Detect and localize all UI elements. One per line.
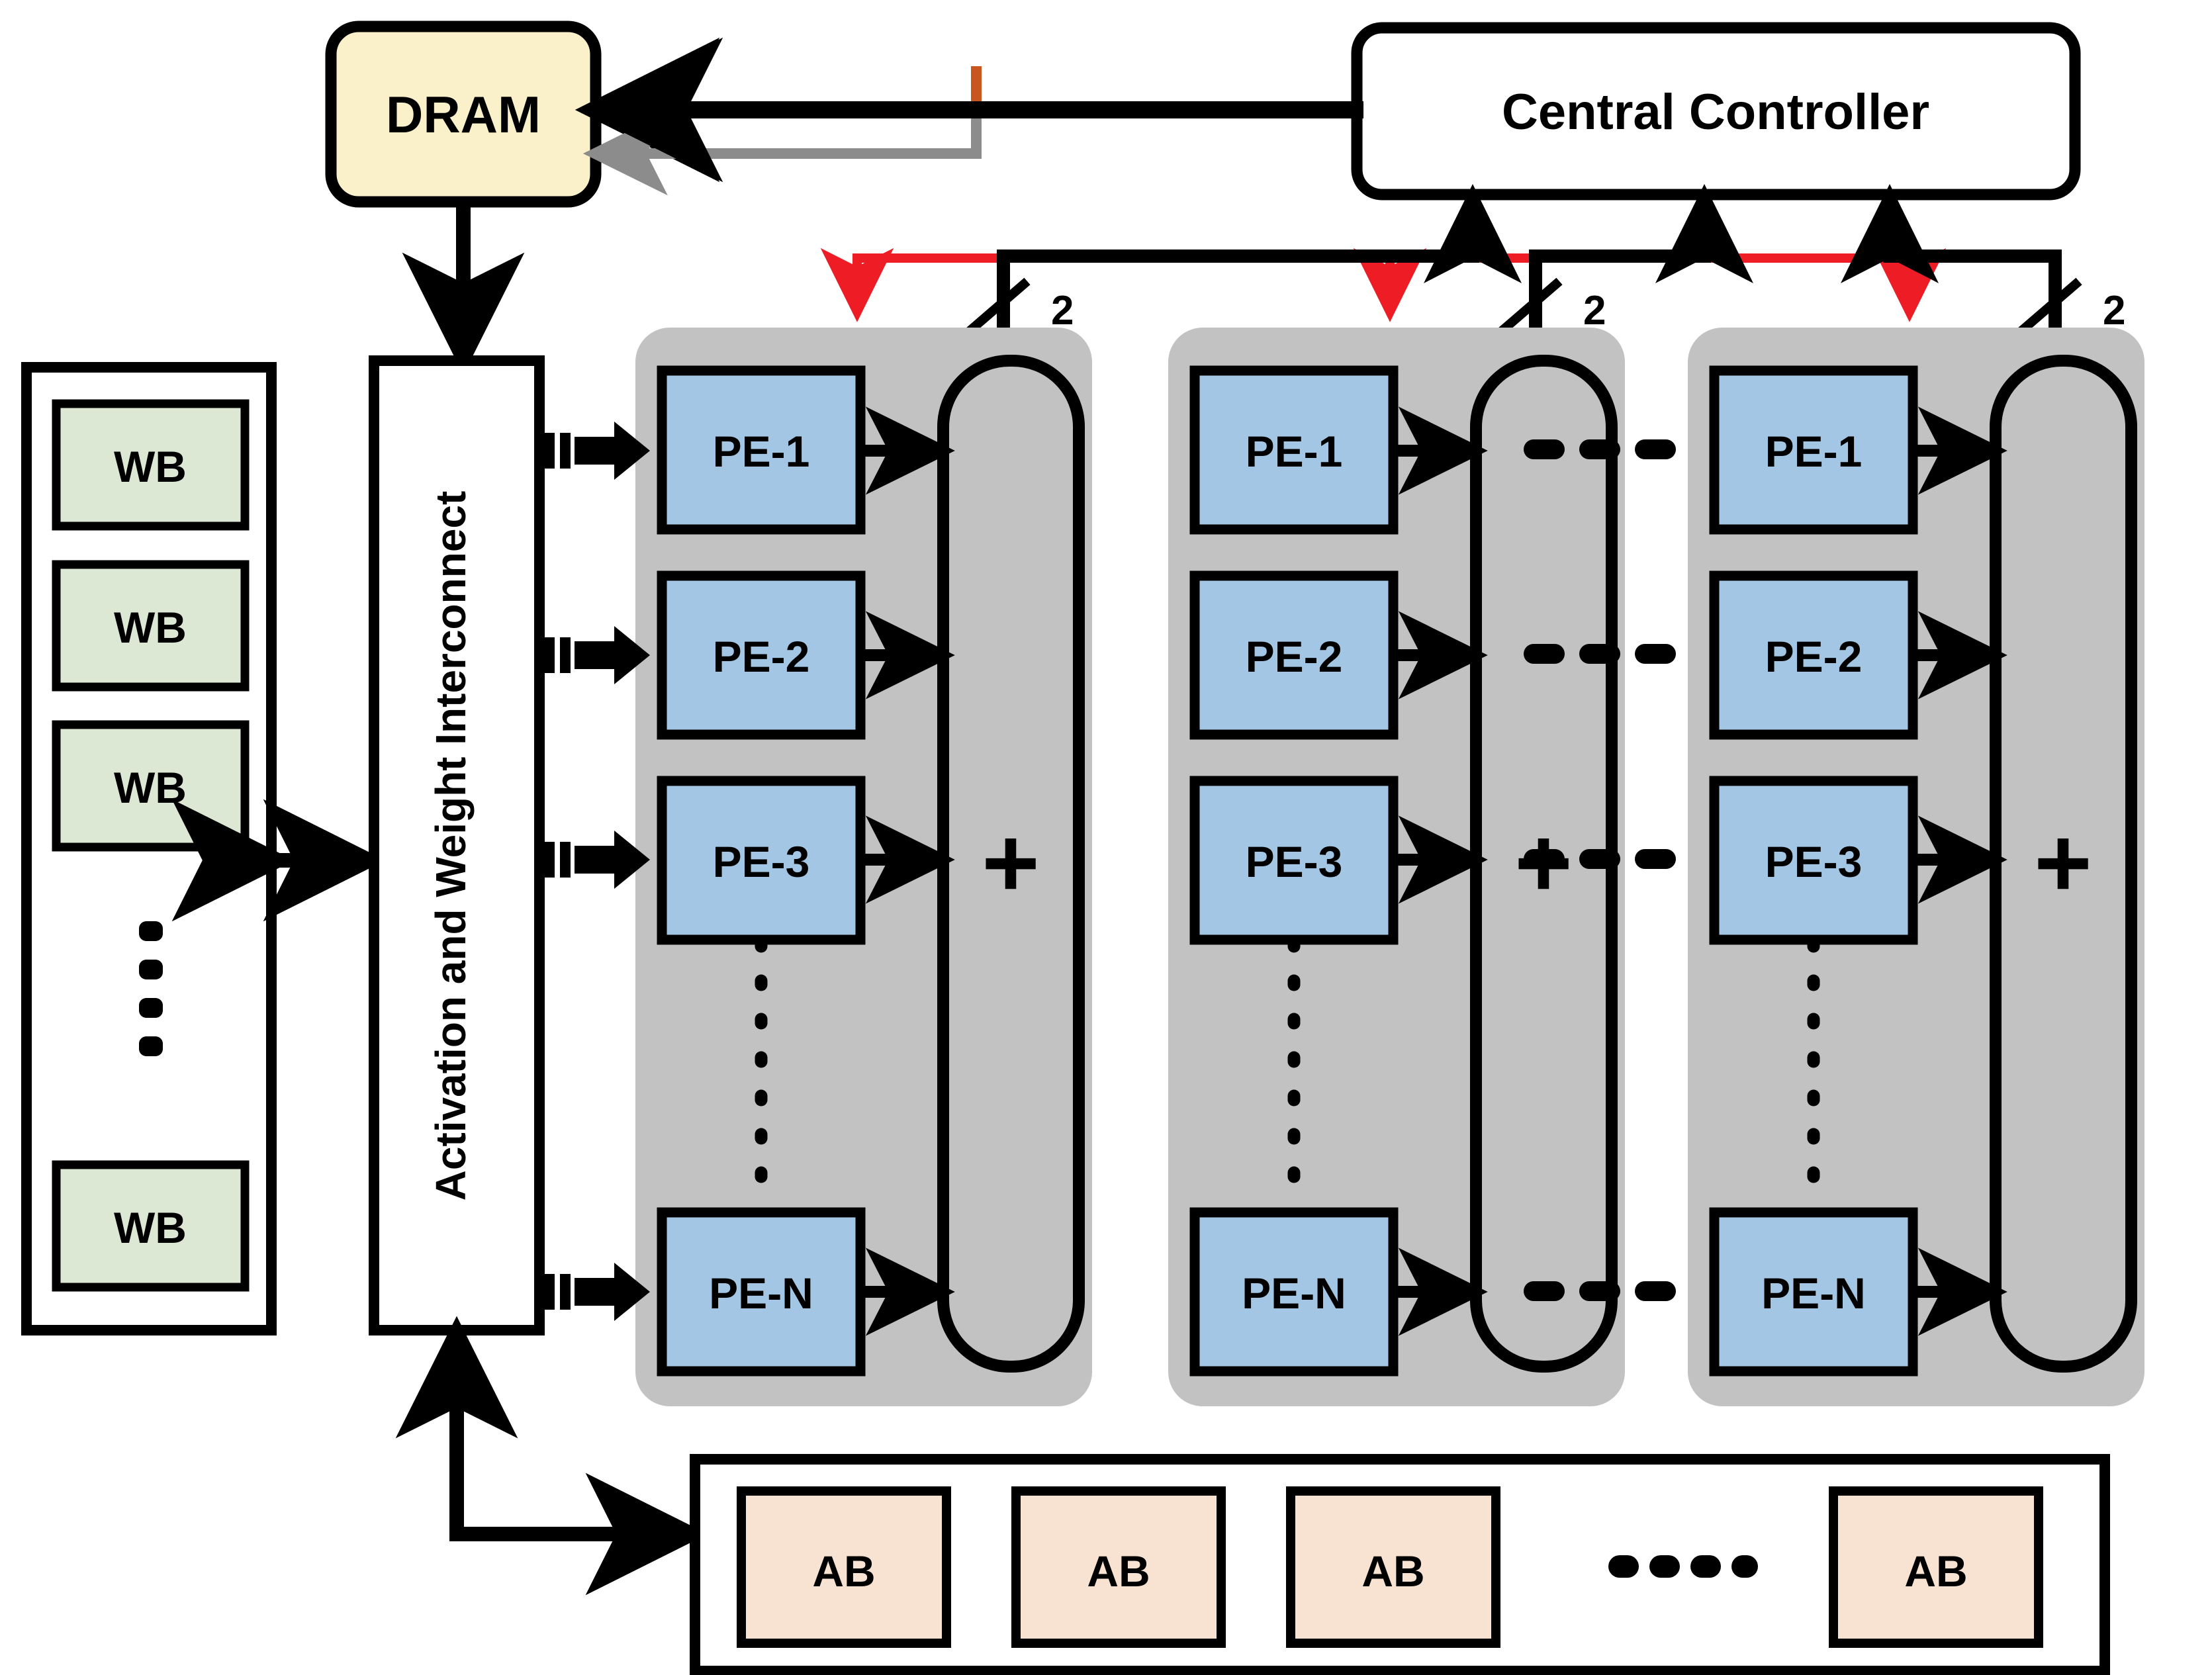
ab-item-n[interactable]: AB xyxy=(1833,1491,2039,1643)
wb-item-1[interactable]: WB xyxy=(56,404,245,526)
ab-item-2[interactable]: AB xyxy=(1016,1491,1221,1643)
wb-item-3[interactable]: WB xyxy=(56,725,245,847)
interconnect-label: Activation and Weight Interconnect xyxy=(427,491,475,1201)
activation-buffer-bank[interactable]: AB AB AB AB xyxy=(695,1459,2105,1671)
weight-buffer-bank[interactable]: WB WB WB WB xyxy=(26,367,271,1330)
cluster-gap-ellipsis-row-2 xyxy=(1524,644,1676,664)
accumulator-plus-icon: + xyxy=(982,807,1040,918)
ab-label: AB xyxy=(1087,1547,1150,1596)
wb-item-n[interactable]: WB xyxy=(56,1165,245,1287)
bus-width-label: 2 xyxy=(1051,288,1074,334)
cluster-gap-ellipsis-row-n xyxy=(1524,1281,1676,1301)
ab-label: AB xyxy=(812,1547,875,1596)
accumulator-plus-icon: + xyxy=(2034,807,2092,918)
ab-item-1[interactable]: AB xyxy=(741,1491,946,1643)
cluster-gap-ellipsis-row-3 xyxy=(1524,849,1676,869)
pe-label: PE-N xyxy=(709,1269,813,1318)
wb-item-2[interactable]: WB xyxy=(56,565,245,687)
central-controller-node[interactable]: Central Controller xyxy=(1357,28,2075,195)
ab-label: AB xyxy=(1904,1547,1967,1596)
wb-label: WB xyxy=(114,442,187,491)
dram-label: DRAM xyxy=(386,85,541,144)
wb-label: WB xyxy=(114,763,187,812)
bus-width-label: 2 xyxy=(1583,288,1606,334)
pe-label: PE-N xyxy=(1761,1269,1866,1318)
pe-label: PE-2 xyxy=(1765,632,1863,681)
pe-label: PE-3 xyxy=(713,837,810,886)
wb-label: WB xyxy=(114,1203,187,1252)
pe-label: PE-N xyxy=(1242,1269,1346,1318)
ab-item-3[interactable]: AB xyxy=(1291,1491,1496,1643)
central-controller-label: Central Controller xyxy=(1502,84,1929,140)
pe-label: PE-2 xyxy=(1246,632,1343,681)
cluster-gap-ellipsis-row-1 xyxy=(1524,439,1676,459)
diagram-svg: DRAM Central Controller WB WB WB xyxy=(0,0,2212,1675)
pe-label: PE-1 xyxy=(1246,427,1343,476)
architecture-diagram-canvas: DRAM Central Controller WB WB WB xyxy=(0,0,2212,1675)
dram-node[interactable]: DRAM xyxy=(331,26,596,202)
interconnect-node[interactable]: Activation and Weight Interconnect xyxy=(374,361,539,1330)
bus-width-label: 2 xyxy=(2103,288,2125,334)
pe-label: PE-1 xyxy=(713,427,810,476)
pe-label: PE-3 xyxy=(1765,837,1863,886)
ab-label: AB xyxy=(1361,1547,1424,1596)
pe-label: PE-1 xyxy=(1765,427,1863,476)
pe-label: PE-3 xyxy=(1246,837,1343,886)
wb-label: WB xyxy=(114,603,187,652)
pe-cluster-n[interactable]: + PE-1 PE-2 PE-3 PE-N xyxy=(1688,328,2144,1406)
pe-label: PE-2 xyxy=(713,632,810,681)
